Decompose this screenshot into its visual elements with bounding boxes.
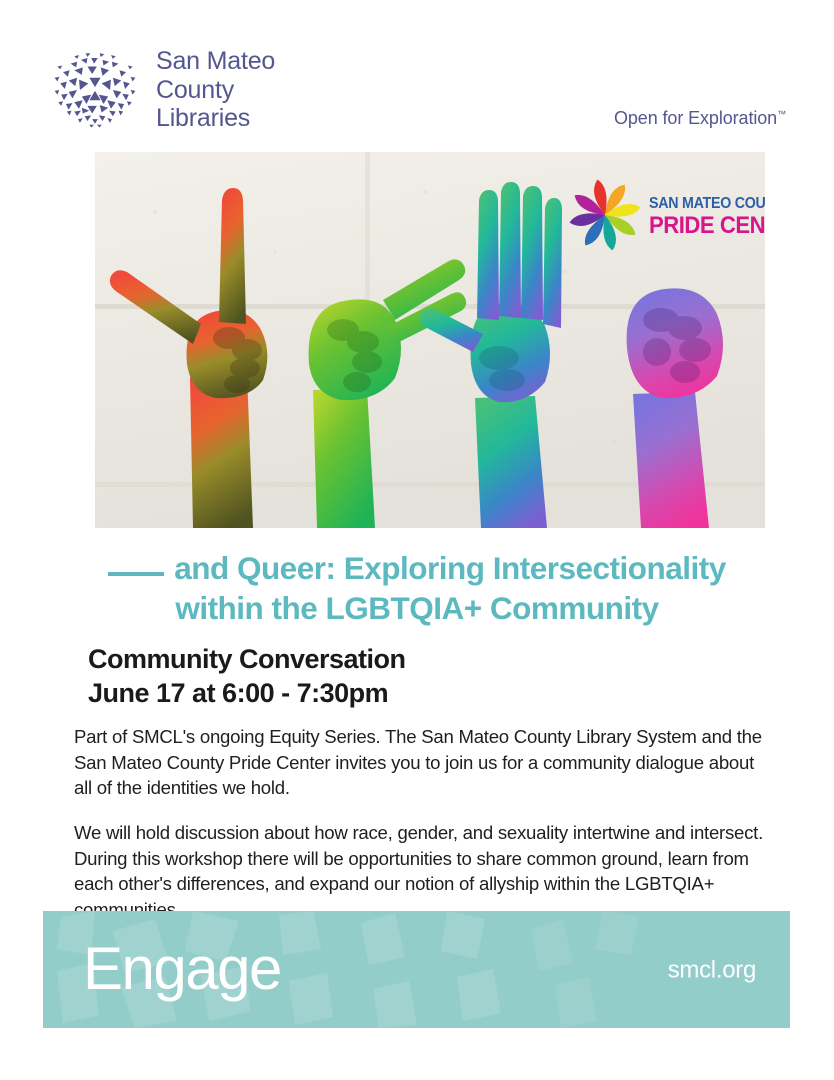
pride-center-wordmark: SAN MATEO COUNTY PRIDE CENTER: [649, 192, 765, 238]
event-datetime: June 17 at 6:00 - 7:30pm: [88, 676, 406, 710]
tagline: Open for Exploration™: [614, 108, 786, 129]
header: San Mateo County Libraries Open for Expl…: [0, 0, 834, 150]
rainbow-pinwheel-icon: [567, 177, 643, 253]
website-url[interactable]: smcl.org: [668, 956, 756, 984]
library-name-line-2: County: [156, 76, 275, 105]
flyer-page: San Mateo County Libraries Open for Expl…: [0, 0, 834, 1080]
tagline-text: Open for Exploration: [614, 108, 777, 128]
event-type: Community Conversation: [88, 642, 406, 676]
event-subhead: Community Conversation June 17 at 6:00 -…: [88, 642, 406, 710]
pride-center-logo: SAN MATEO COUNTY PRIDE CENTER: [567, 176, 765, 254]
engage-banner: Engage smcl.org: [43, 911, 790, 1028]
engage-label: Engage: [83, 938, 281, 998]
blank-placeholder-rule: [108, 572, 164, 576]
library-name-line-1: San Mateo: [156, 47, 275, 76]
title-line-1: and Queer: Exploring Intersectionality: [38, 548, 796, 588]
library-logo-lockup: San Mateo County Libraries: [48, 42, 275, 136]
trademark-symbol: ™: [777, 109, 786, 119]
library-wordmark: San Mateo County Libraries: [156, 45, 275, 133]
title-line-2: within the LGBTQIA+ Community: [38, 588, 796, 628]
pride-line-2: PRIDE CENTER: [649, 214, 765, 238]
body-paragraph-1: Part of SMCL's ongoing Equity Series. Th…: [74, 724, 764, 801]
library-name-line-3: Libraries: [156, 104, 275, 133]
page-title: and Queer: Exploring Intersectionality w…: [0, 548, 834, 629]
hero-photo: SAN MATEO COUNTY PRIDE CENTER: [95, 152, 765, 528]
body-paragraph-2: We will hold discussion about how race, …: [74, 820, 764, 923]
pride-line-1: SAN MATEO COUNTY: [649, 196, 765, 212]
title-line-1-text: and Queer: Exploring Intersectionality: [174, 550, 726, 586]
body-copy: Part of SMCL's ongoing Equity Series. Th…: [74, 724, 764, 923]
triangulated-sphere-icon: [48, 42, 142, 136]
